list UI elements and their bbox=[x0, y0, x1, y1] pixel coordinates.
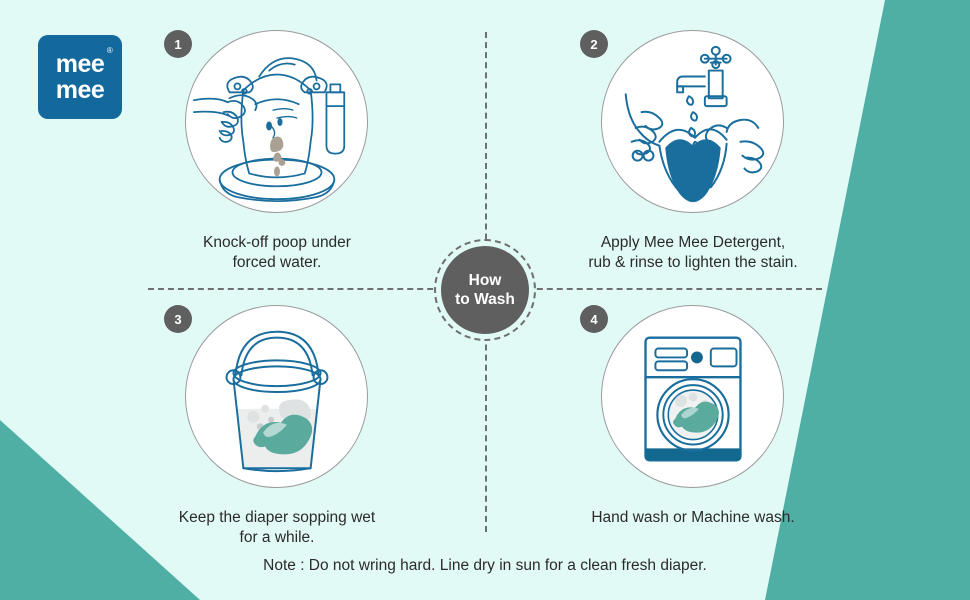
step-3-caption: Keep the diaper sopping wet for a while. bbox=[112, 508, 442, 548]
step-4: 4 Hand wash or Machine wash. bbox=[528, 305, 858, 528]
step-3-illustration-wrap: 3 bbox=[112, 305, 442, 490]
step-2-number-badge: 2 bbox=[580, 30, 608, 58]
how-to-wash-infographic: mee® mee bbox=[0, 0, 970, 600]
center-hub-label: How to Wash bbox=[441, 246, 529, 334]
step-1: 1 Knock-off poop under forced water. bbox=[112, 30, 442, 273]
step-3-illustration bbox=[185, 305, 368, 488]
step-4-number-badge: 4 bbox=[580, 305, 608, 333]
step-2-illustration bbox=[601, 30, 784, 213]
logo-text-line-1: mee® bbox=[56, 51, 105, 77]
center-hub: How to Wash bbox=[434, 239, 536, 341]
step-2-caption: Apply Mee Mee Detergent, rub & rinse to … bbox=[528, 233, 858, 273]
step-2-illustration-wrap: 2 bbox=[528, 30, 858, 215]
step-1-caption: Knock-off poop under forced water. bbox=[112, 233, 442, 273]
step-1-illustration bbox=[185, 30, 368, 213]
registered-mark-icon: ® bbox=[107, 47, 112, 55]
logo-text-line-2: mee bbox=[56, 77, 105, 103]
step-4-illustration-wrap: 4 bbox=[528, 305, 858, 490]
step-4-illustration bbox=[601, 305, 784, 488]
step-3-number-badge: 3 bbox=[164, 305, 192, 333]
step-1-number-badge: 1 bbox=[164, 30, 192, 58]
step-1-illustration-wrap: 1 bbox=[112, 30, 442, 215]
step-4-caption: Hand wash or Machine wash. bbox=[528, 508, 858, 528]
logo-word-1: mee bbox=[56, 50, 105, 78]
footer-note: Note : Do not wring hard. Line dry in su… bbox=[0, 557, 970, 575]
mee-mee-logo: mee® mee bbox=[38, 35, 122, 119]
step-3: 3 Keep the diaper sopping wet for a whil… bbox=[112, 305, 442, 548]
step-2: 2 Apply Mee Mee Detergent, rub & rinse t… bbox=[528, 30, 858, 273]
